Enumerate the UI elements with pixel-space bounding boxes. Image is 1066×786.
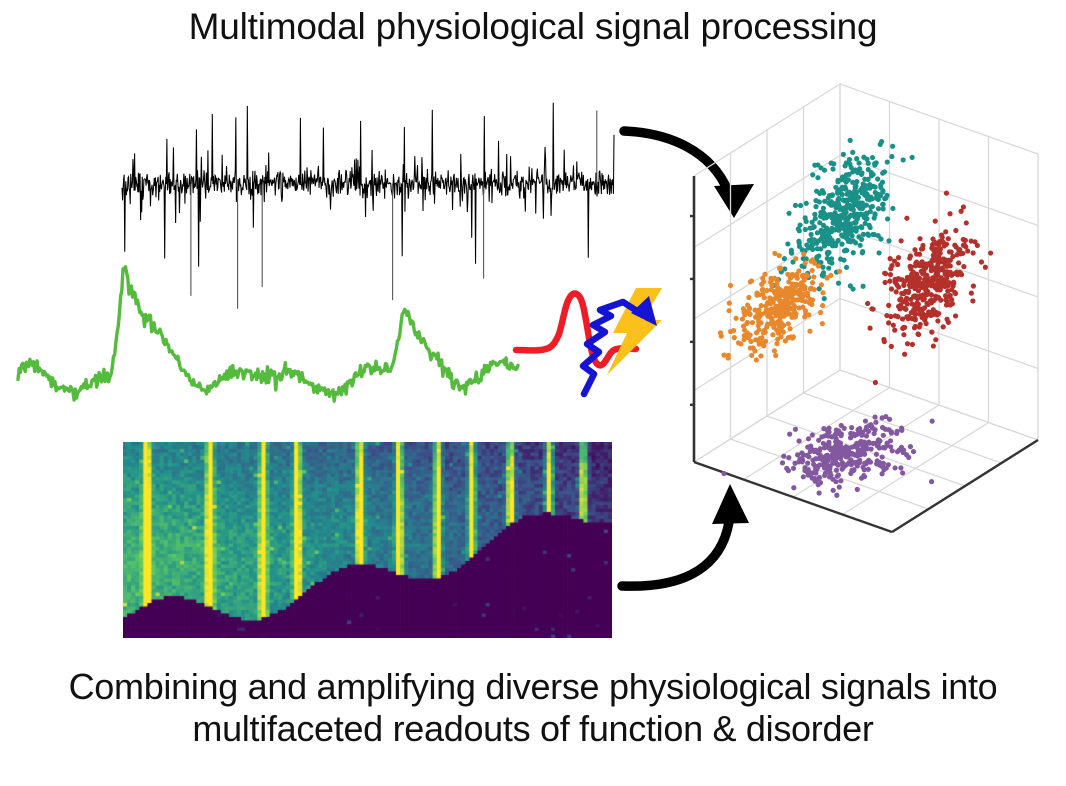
neural-trace-plot — [122, 74, 614, 270]
neural-trace-line — [122, 103, 614, 267]
scatter-3d-panel — [672, 160, 1066, 580]
scatter-3d-plot — [672, 160, 1066, 580]
spectrogram-image — [123, 442, 612, 638]
cluster-purple — [721, 414, 934, 498]
calcium-trace-line — [18, 267, 518, 401]
cluster-red — [865, 191, 993, 386]
page-title: Multimodal physiological signal processi… — [0, 6, 1066, 48]
scatter-points — [718, 138, 993, 498]
lightning-bolt-icon — [607, 288, 662, 375]
calcium-trace-plot — [18, 244, 518, 414]
spectrogram-panel — [123, 442, 612, 638]
caption-line-2: multifaceted readouts of function & diso… — [0, 708, 1066, 750]
figure-caption: Combining and amplifying diverse physiol… — [0, 666, 1066, 751]
figure-canvas: Multimodal physiological signal processi… — [0, 0, 1066, 786]
signal-icon-cluster — [510, 262, 680, 398]
caption-line-1: Combining and amplifying diverse physiol… — [0, 666, 1066, 708]
zigzag-signal-arrow-icon — [583, 296, 657, 394]
calcium-trace-panel — [18, 244, 518, 414]
neural-trace-panel — [122, 74, 614, 270]
